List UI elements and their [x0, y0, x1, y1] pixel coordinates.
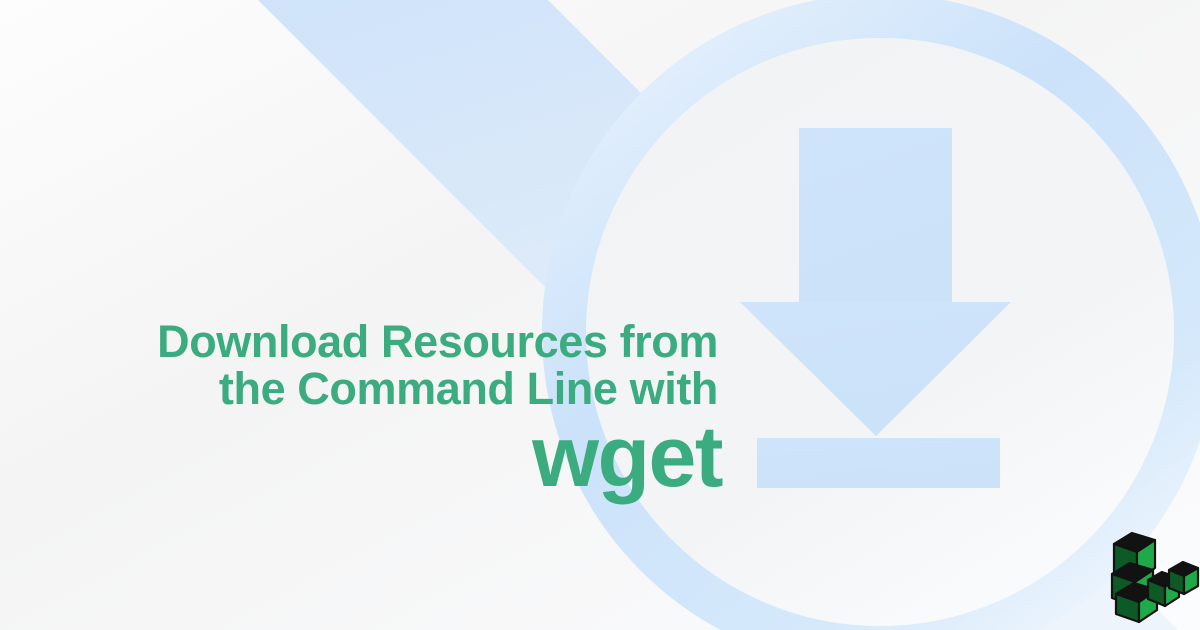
headline-block: Download Resources from the Command Line… [0, 318, 718, 412]
headline-line-2: the Command Line with [0, 365, 718, 412]
arrow-base-bar [757, 438, 1000, 488]
arrow-shaft [799, 128, 952, 304]
isometric-cubes-logo-icon [1108, 518, 1200, 624]
headline-line-1: Download Resources from [0, 318, 718, 365]
headline-emphasis-wget: wget [0, 414, 722, 500]
background-artwork [0, 0, 1200, 630]
cube-right-small [1169, 562, 1198, 594]
brand-logo[interactable] [1108, 518, 1200, 624]
banner-canvas: Download Resources from the Command Line… [0, 0, 1200, 630]
